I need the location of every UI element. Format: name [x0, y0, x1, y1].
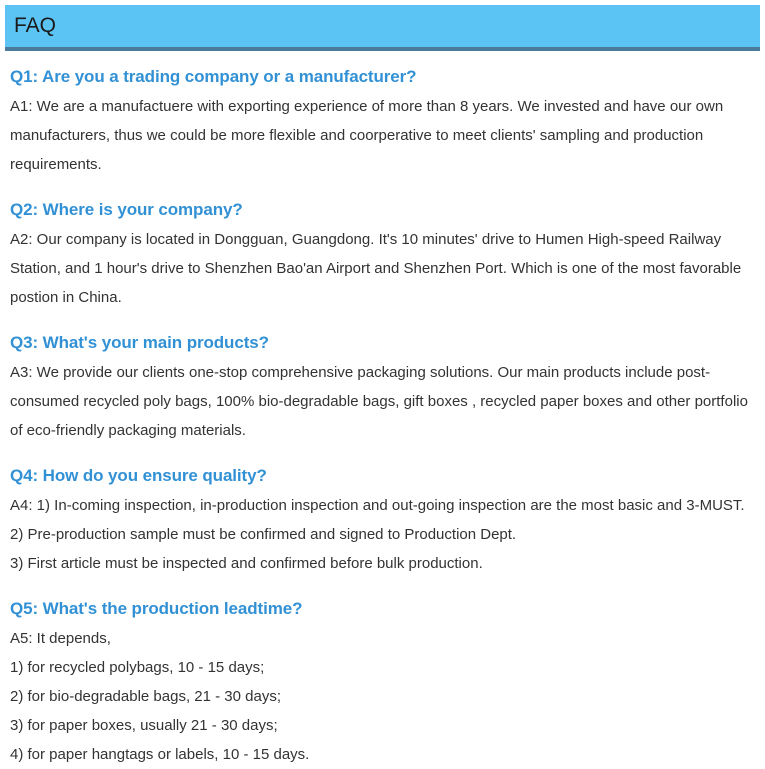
- faq-question-1: Q1: Are you a trading company or a manuf…: [10, 62, 752, 91]
- faq-answer-5-line-3: 2) for bio-degradable bags, 21 - 30 days…: [10, 682, 752, 711]
- faq-question-4: Q4: How do you ensure quality?: [10, 461, 752, 490]
- faq-page: FAQ Q1: Are you a trading company or a m…: [0, 0, 765, 748]
- faq-content: Q1: Are you a trading company or a manuf…: [10, 62, 752, 769]
- faq-answer-5-line-4: 3) for paper boxes, usually 21 - 30 days…: [10, 711, 752, 740]
- faq-answer-3-line-1: A3: We provide our clients one-stop comp…: [10, 358, 752, 445]
- faq-question-2: Q2: Where is your company?: [10, 195, 752, 224]
- faq-answer-5-line-5: 4) for paper hangtags or labels, 10 - 15…: [10, 740, 752, 769]
- faq-answer-1-line-1: A1: We are a manufactuere with exporting…: [10, 92, 752, 179]
- faq-answer-5-line-1: A5: It depends,: [10, 624, 752, 653]
- faq-banner: FAQ: [5, 5, 760, 51]
- faq-item-3: Q3: What's your main products? A3: We pr…: [10, 328, 752, 445]
- faq-item-2: Q2: Where is your company? A2: Our compa…: [10, 195, 752, 312]
- faq-question-3: Q3: What's your main products?: [10, 328, 752, 357]
- faq-item-4: Q4: How do you ensure quality? A4: 1) In…: [10, 461, 752, 578]
- faq-item-5: Q5: What's the production leadtime? A5: …: [10, 594, 752, 769]
- faq-answer-4-line-2: 2) Pre-production sample must be confirm…: [10, 520, 752, 549]
- faq-answer-4-line-1: A4: 1) In-coming inspection, in-producti…: [10, 491, 752, 520]
- faq-question-5: Q5: What's the production leadtime?: [10, 594, 752, 623]
- page-title: FAQ: [14, 13, 56, 39]
- faq-item-1: Q1: Are you a trading company or a manuf…: [10, 62, 752, 179]
- faq-answer-2-line-1: A2: Our company is located in Dongguan, …: [10, 225, 752, 312]
- faq-answer-4-line-3: 3) First article must be inspected and c…: [10, 549, 752, 578]
- faq-answer-5-line-2: 1) for recycled polybags, 10 - 15 days;: [10, 653, 752, 682]
